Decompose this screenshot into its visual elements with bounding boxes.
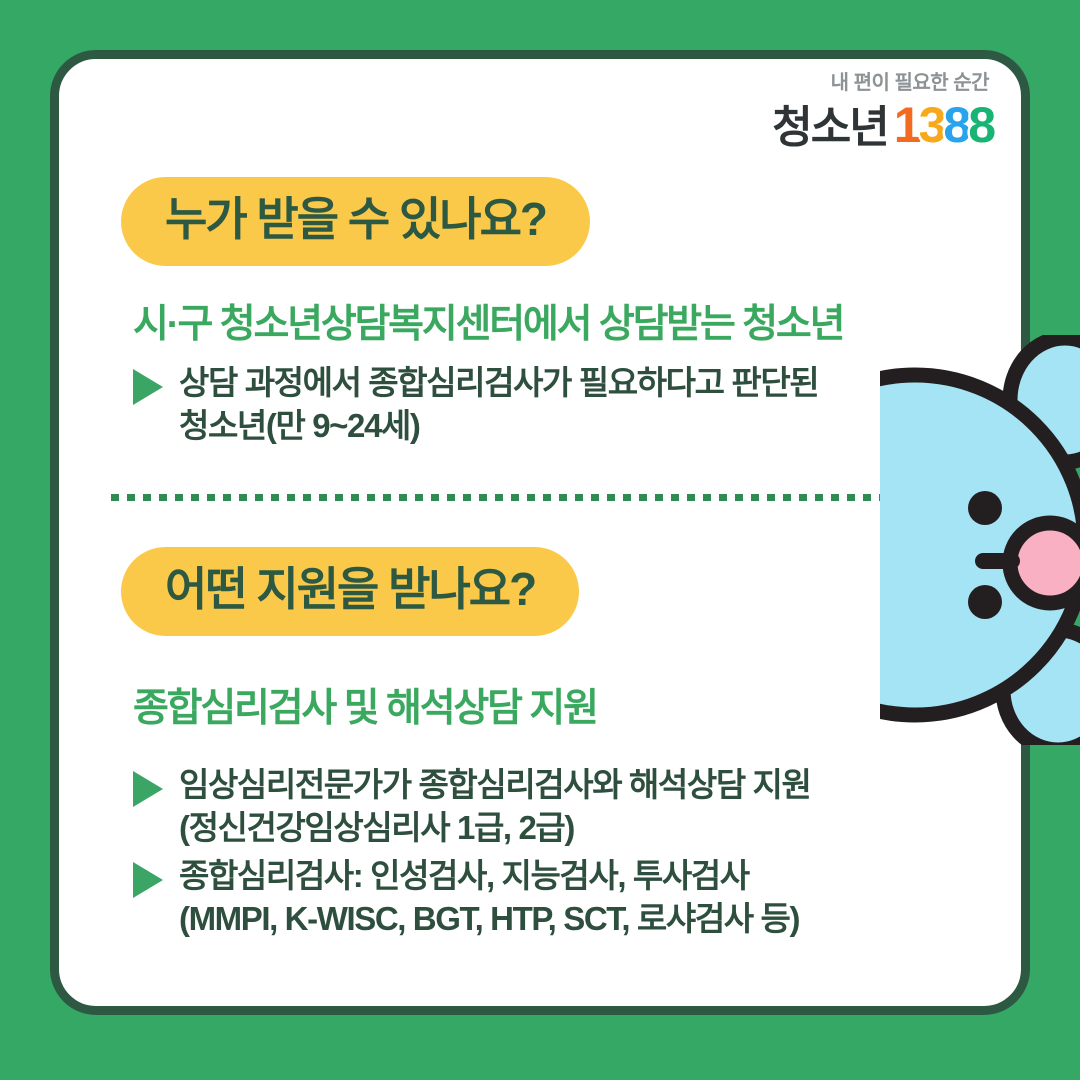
triangle-bullet-icon (133, 369, 163, 405)
dotted-divider (111, 494, 969, 501)
section-support: 어떤 지원을 받나요? 종합심리검사 및 해석상담 지원 임상심리전문가가 종합… (121, 547, 981, 945)
bullet-list-who: 상담 과정에서 종합심리검사가 필요하다고 판단된 청소년(만 9~24세) (121, 361, 981, 448)
list-item-text: 종합심리검사: 인성검사, 지능검사, 투사검사 (MMPI, K-WISC, … (179, 854, 799, 941)
list-item: 종합심리검사: 인성검사, 지능검사, 투사검사 (MMPI, K-WISC, … (133, 854, 981, 941)
logo-number-1388: 1 3 8 8 (894, 100, 993, 150)
logo-digit-3: 3 (919, 100, 944, 150)
card-inner: 내 편이 필요한 순간 청소년 1 3 8 8 누가 받을 수 있나요? 시·구… (59, 59, 1021, 1006)
logo-digit-8b: 8 (968, 100, 993, 150)
list-item: 임상심리전문가가 종합심리검사와 해석상담 지원 (정신건강임상심리사 1급, … (133, 763, 981, 850)
logo-digit-8a: 8 (943, 100, 968, 150)
logo-digit-1: 1 (894, 100, 919, 150)
section-badge-who: 누가 받을 수 있나요? (121, 177, 590, 266)
triangle-bullet-icon (133, 862, 163, 898)
logo-wordmark: 청소년 (772, 106, 887, 150)
section-eligibility: 누가 받을 수 있나요? 시·구 청소년상담복지센터에서 상담받는 청소년 상담… (121, 177, 981, 452)
section-heading-what: 종합심리검사 및 해석상담 지원 (133, 688, 981, 731)
section-heading-who: 시·구 청소년상담복지센터에서 상담받는 청소년 (133, 304, 981, 347)
brand-logo: 내 편이 필요한 순간 청소년 1 3 8 8 (772, 73, 993, 150)
section-badge-what: 어떤 지원을 받나요? (121, 547, 579, 636)
list-item: 상담 과정에서 종합심리검사가 필요하다고 판단된 청소년(만 9~24세) (133, 361, 981, 448)
triangle-bullet-icon (133, 771, 163, 807)
list-item-text: 임상심리전문가가 종합심리검사와 해석상담 지원 (정신건강임상심리사 1급, … (179, 763, 810, 850)
logo-main: 청소년 1 3 8 8 (772, 100, 993, 150)
list-item-text: 상담 과정에서 종합심리검사가 필요하다고 판단된 청소년(만 9~24세) (179, 361, 818, 448)
info-card: 내 편이 필요한 순간 청소년 1 3 8 8 누가 받을 수 있나요? 시·구… (50, 50, 1030, 1015)
bullet-list-what: 임상심리전문가가 종합심리검사와 해석상담 지원 (정신건강임상심리사 1급, … (121, 763, 981, 941)
logo-tagline: 내 편이 필요한 순간 (772, 73, 989, 93)
